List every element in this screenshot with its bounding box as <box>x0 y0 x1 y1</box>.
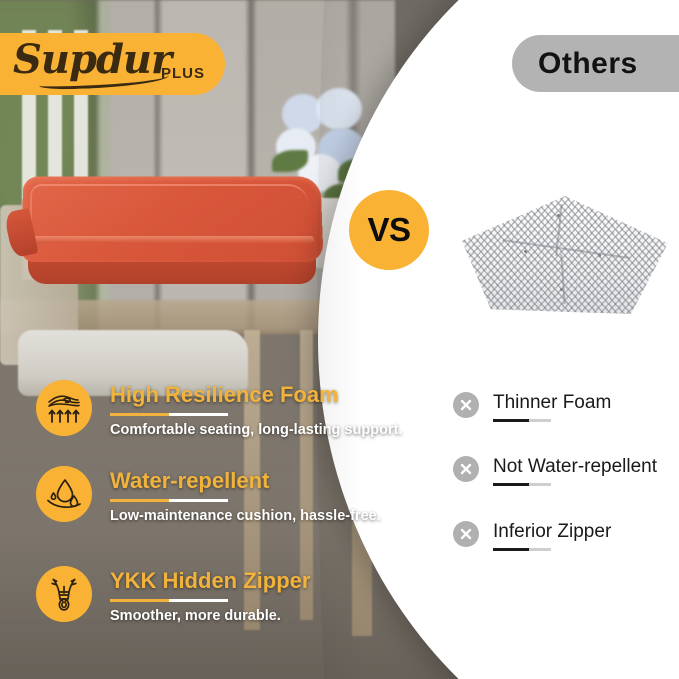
x-circle-icon <box>453 392 479 418</box>
feature-title: High Resilience Foam <box>110 382 402 408</box>
feature-item-high-resilience-foam: High Resilience Foam Comfortable seating… <box>36 380 402 438</box>
feature-text-block: Water-repellent Low-maintenance cushion,… <box>110 466 381 524</box>
feature-item-water-repellent: Water-repellent Low-maintenance cushion,… <box>36 466 381 524</box>
supdur-logo-icon: Supdur PLUS <box>0 36 207 92</box>
feature-title: Water-repellent <box>110 468 381 494</box>
zipper-icon <box>36 566 92 622</box>
con-accent-rule <box>493 419 551 422</box>
vs-label: VS <box>367 211 410 249</box>
con-text-block: Not Water-repellent <box>493 456 657 486</box>
con-item-not-water-repellent: Not Water-repellent <box>453 456 657 486</box>
cushion-edge-seam <box>30 184 308 238</box>
con-text-block: Inferior Zipper <box>493 521 611 551</box>
comparison-infographic: Supdur PLUS Others VS <box>0 0 679 679</box>
feature-title: YKK Hidden Zipper <box>110 568 310 594</box>
con-title: Not Water-repellent <box>493 456 657 478</box>
competitor-cushion-product <box>462 196 668 314</box>
feature-subtitle: Smoother, more durable. <box>110 608 310 624</box>
feature-subtitle: Low-maintenance cushion, hassle-free. <box>110 508 381 524</box>
con-accent-rule <box>493 548 551 551</box>
others-label: Others <box>538 47 638 81</box>
x-circle-icon <box>453 456 479 482</box>
feature-accent-rule <box>110 499 228 502</box>
others-badge: Others <box>512 35 679 92</box>
con-text-block: Thinner Foam <box>493 392 611 422</box>
con-title: Thinner Foam <box>493 392 611 414</box>
feature-subtitle: Comfortable seating, long-lasting suppor… <box>110 422 402 438</box>
con-item-inferior-zipper: Inferior Zipper <box>453 521 611 551</box>
orange-seat-cushion-product <box>22 176 322 301</box>
logo-swoosh-underline <box>39 71 169 91</box>
feature-text-block: High Resilience Foam Comfortable seating… <box>110 380 402 438</box>
brand-plus-label: PLUS <box>161 65 205 82</box>
feature-accent-rule <box>110 413 228 416</box>
foam-hand-press-icon <box>36 380 92 436</box>
x-circle-icon <box>453 521 479 547</box>
feature-text-block: YKK Hidden Zipper Smoother, more durable… <box>110 566 310 624</box>
con-accent-rule <box>493 483 551 486</box>
con-item-thinner-foam: Thinner Foam <box>453 392 611 422</box>
brand-logo-badge: Supdur PLUS <box>0 33 225 95</box>
water-droplet-icon <box>36 466 92 522</box>
feature-accent-rule <box>110 599 228 602</box>
vs-badge: VS <box>349 190 429 270</box>
feature-item-ykk-hidden-zipper: YKK Hidden Zipper Smoother, more durable… <box>36 566 310 624</box>
con-title: Inferior Zipper <box>493 521 611 543</box>
